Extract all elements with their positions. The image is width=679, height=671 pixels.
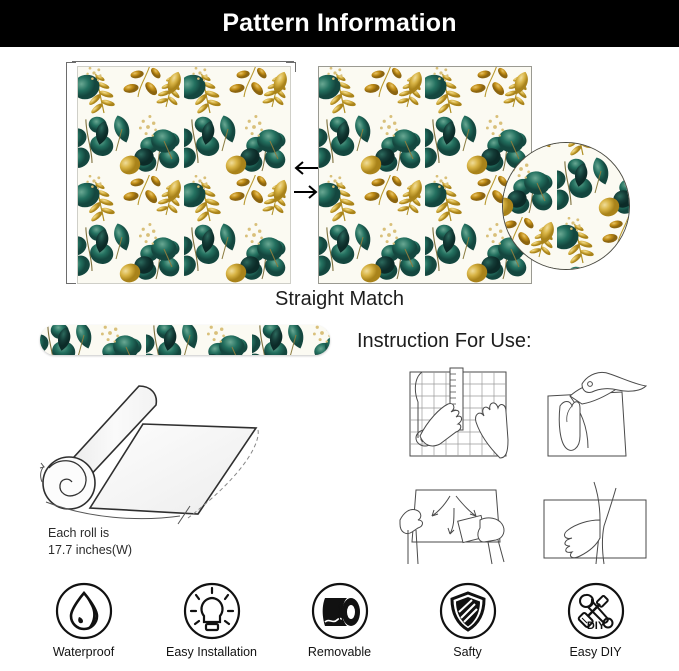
instruction-step-press-flat xyxy=(530,468,672,574)
instruction-step-peel-backing xyxy=(530,362,672,468)
tape-roll-icon xyxy=(311,582,369,640)
badge-label: Easy Installation xyxy=(166,645,257,659)
badge-easy-diy: DIY Easy DIY xyxy=(550,582,642,659)
feature-badges: Waterproof Easy Installation xyxy=(0,582,679,670)
pattern-border-strip xyxy=(40,325,330,355)
instruction-panels xyxy=(388,362,672,578)
pattern-fill-magnified xyxy=(502,142,630,270)
magnified-detail-circle xyxy=(502,142,630,270)
pattern-swatch-left xyxy=(77,66,291,284)
header-bar: Pattern Information xyxy=(0,0,679,47)
badge-removable: Removable xyxy=(294,582,386,659)
bracket-corner-bottom-left xyxy=(66,274,76,284)
match-arrows xyxy=(292,152,320,208)
instruction-step-apply-and-smooth xyxy=(388,468,530,574)
wrench-screwdriver-icon: DIY xyxy=(567,582,625,640)
roll-caption-line2: 17.7 inches(W) xyxy=(48,542,278,559)
bracket-corner-top-left xyxy=(66,62,76,72)
instructions-title: Instruction For Use: xyxy=(357,330,532,353)
wallpaper-roll-illustration xyxy=(28,378,328,538)
badge-label: Easy DIY xyxy=(569,645,621,659)
badge-label: Waterproof xyxy=(53,645,114,659)
pattern-fill-strip xyxy=(40,325,330,355)
badge-label: Safty xyxy=(453,645,482,659)
pattern-swatch-right xyxy=(318,66,532,284)
bracket-left xyxy=(66,68,75,282)
pattern-fill xyxy=(78,67,290,283)
page-title: Pattern Information xyxy=(222,9,456,38)
roll-width-caption: Each roll is 17.7 inches(W) xyxy=(48,525,278,559)
instruction-step-measure-and-cut xyxy=(388,362,530,468)
water-drop-icon xyxy=(55,582,113,640)
pattern-fill xyxy=(319,67,531,283)
badge-waterproof: Waterproof xyxy=(38,582,130,659)
diy-text: DIY xyxy=(586,620,605,632)
shield-icon xyxy=(439,582,497,640)
badge-easy-installation: Easy Installation xyxy=(166,582,258,659)
light-bulb-icon xyxy=(183,582,241,640)
roll-caption-line1: Each roll is xyxy=(48,525,278,542)
badge-label: Removable xyxy=(308,645,371,659)
match-type-label: Straight Match xyxy=(0,288,679,311)
badge-safty: Safty xyxy=(422,582,514,659)
